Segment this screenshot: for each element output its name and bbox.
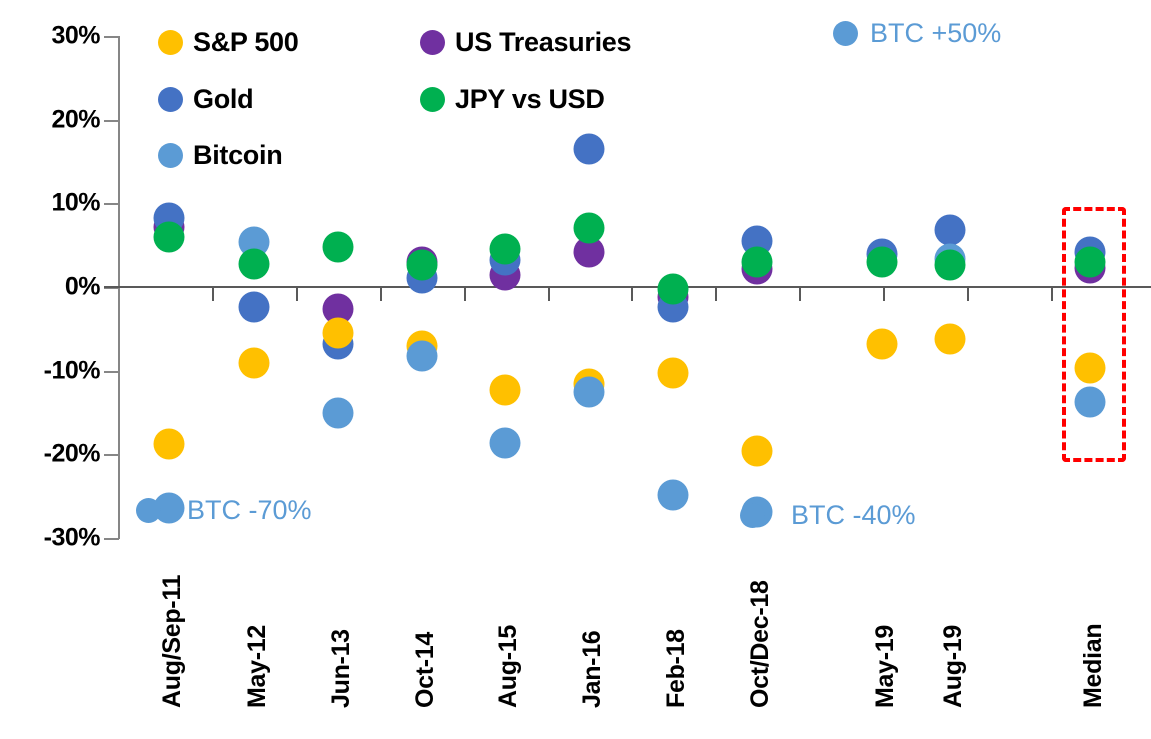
data-point	[742, 435, 773, 466]
annotation-label: BTC +50%	[870, 18, 1001, 49]
data-point	[154, 429, 185, 460]
legend-swatch-dot-icon	[158, 87, 183, 112]
legend-label: Gold	[193, 84, 253, 115]
legend-label: S&P 500	[193, 27, 298, 58]
x-axis-category-label: Median	[1079, 624, 1108, 708]
x-axis-tick-mark	[464, 287, 466, 301]
data-point	[867, 328, 898, 359]
data-point	[574, 377, 605, 408]
y-axis-tick-label: 30%	[51, 22, 100, 51]
x-axis-tick-mark	[1051, 287, 1053, 301]
x-axis-tick-mark	[296, 287, 298, 301]
x-axis-tick-mark	[548, 287, 550, 301]
data-point	[323, 318, 354, 349]
zero-baseline	[104, 286, 1151, 288]
data-point	[323, 398, 354, 429]
data-point	[1075, 387, 1106, 418]
annotation-dot-icon	[136, 498, 161, 523]
annotation-btc-down-70: BTC -70%	[136, 495, 312, 526]
data-point	[574, 212, 605, 243]
y-axis-tick-mark	[104, 203, 119, 205]
data-point	[742, 246, 773, 277]
x-axis-category-label: May-19	[871, 625, 900, 708]
data-point	[323, 231, 354, 262]
x-axis-tick-mark	[715, 287, 717, 301]
legend-label: JPY vs USD	[455, 84, 605, 115]
y-axis-tick-label: -10%	[44, 356, 100, 385]
data-point	[935, 250, 966, 281]
x-axis-tick-mark	[883, 287, 885, 301]
data-point	[658, 273, 689, 304]
data-point	[239, 249, 270, 280]
x-axis-category-label: Aug-15	[494, 625, 523, 708]
y-axis-tick-mark	[104, 538, 119, 540]
data-point	[239, 348, 270, 379]
y-axis-tick-label: -20%	[44, 440, 100, 469]
annotation-dot-icon	[833, 21, 858, 46]
legend-swatch-dot-icon	[158, 30, 183, 55]
y-axis-tick-mark	[104, 120, 119, 122]
data-point	[490, 374, 521, 405]
x-axis-category-label: Aug-19	[939, 625, 968, 708]
y-axis-tick-label: 10%	[51, 189, 100, 218]
data-point	[490, 234, 521, 265]
data-point	[658, 358, 689, 389]
legend-swatch-dot-icon	[158, 143, 183, 168]
data-point	[407, 250, 438, 281]
y-axis-tick-label: 20%	[51, 105, 100, 134]
x-axis-category-label: Jan-16	[578, 631, 607, 708]
scatter-chart: 30%20%10%0%-10%-20%-30% Aug/Sep-11May-12…	[0, 0, 1151, 739]
data-point	[935, 215, 966, 246]
annotation-btc-down-40: BTC -40%	[740, 500, 916, 531]
x-axis-tick-mark	[799, 287, 801, 301]
annotation-btc-up-50: BTC +50%	[833, 18, 1001, 49]
data-point	[1075, 353, 1106, 384]
y-axis-tick-label: 0%	[65, 273, 100, 302]
data-point	[154, 221, 185, 252]
legend-item-us-treasuries[interactable]: US Treasuries	[420, 27, 631, 58]
legend-label: Bitcoin	[193, 140, 282, 171]
data-point	[867, 246, 898, 277]
legend-swatch-dot-icon	[420, 87, 445, 112]
annotation-label: BTC -40%	[791, 500, 916, 531]
y-axis-tick-label: -30%	[44, 524, 100, 553]
data-point	[407, 340, 438, 371]
legend-item-gold[interactable]: Gold	[158, 84, 253, 115]
x-axis-category-label: Feb-18	[662, 629, 691, 708]
data-point	[490, 427, 521, 458]
data-point	[574, 133, 605, 164]
x-axis-tick-mark	[380, 287, 382, 301]
data-point	[239, 292, 270, 323]
x-axis-tick-mark	[212, 287, 214, 301]
data-point	[935, 323, 966, 354]
annotation-label: BTC -70%	[187, 495, 312, 526]
annotation-dot-icon	[740, 503, 765, 528]
y-axis-tick-mark	[104, 371, 119, 373]
x-axis-category-label: Jun-13	[327, 629, 356, 708]
y-axis-tick-mark	[104, 36, 119, 38]
legend-label: US Treasuries	[455, 27, 631, 58]
x-axis-category-label: May-12	[243, 625, 272, 708]
legend-item-jpy-vs-usd[interactable]: JPY vs USD	[420, 84, 605, 115]
x-axis-tick-mark	[631, 287, 633, 301]
x-axis-tick-mark	[967, 287, 969, 301]
data-point	[1075, 246, 1106, 277]
legend-swatch-dot-icon	[420, 30, 445, 55]
data-point	[658, 480, 689, 511]
y-axis-tick-mark	[104, 454, 119, 456]
legend-item-bitcoin[interactable]: Bitcoin	[158, 140, 282, 171]
x-axis-category-label: Oct-14	[411, 632, 440, 708]
x-axis-category-label: Aug/Sep-11	[158, 575, 187, 708]
legend-item-s-p-500[interactable]: S&P 500	[158, 27, 298, 58]
x-axis-category-label: Oct/Dec-18	[746, 580, 775, 708]
